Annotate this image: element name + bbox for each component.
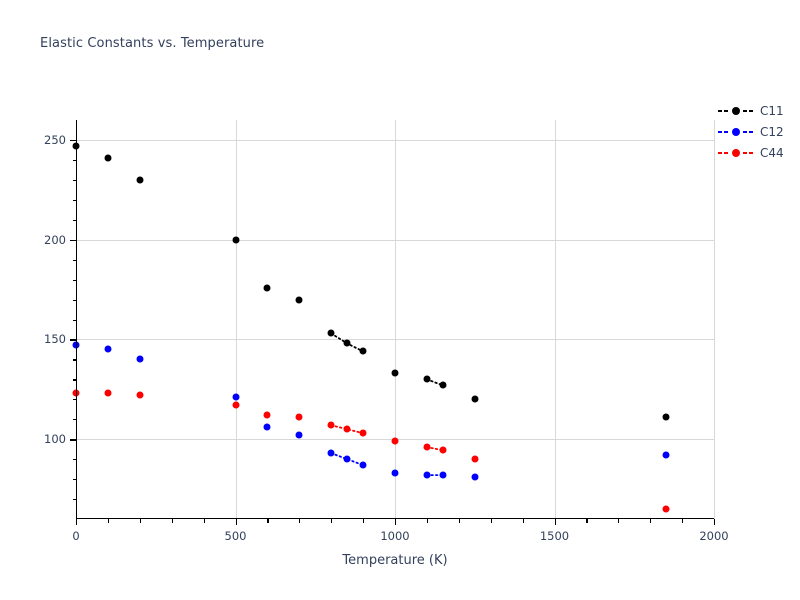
- legend-dash: [724, 110, 728, 112]
- x-tick-major: [395, 519, 396, 525]
- x-tick-minor: [586, 519, 587, 523]
- x-tick-major: [236, 519, 237, 525]
- legend: C11C12C44: [716, 100, 796, 163]
- x-tick-label: 2000: [699, 529, 728, 543]
- legend-marker-C12: [732, 128, 740, 136]
- gridline-vertical: [714, 120, 715, 519]
- legend-item-C12[interactable]: C12: [716, 121, 796, 142]
- legend-dash: [718, 110, 722, 112]
- x-tick-major: [714, 519, 715, 525]
- legend-marker-C44: [732, 149, 740, 157]
- x-tick-minor: [491, 519, 492, 523]
- x-tick-label: 1000: [380, 529, 409, 543]
- x-tick-minor: [650, 519, 651, 523]
- legend-label-C44: C44: [760, 146, 784, 160]
- y-tick-label: 150: [6, 332, 76, 346]
- x-tick-minor: [523, 519, 524, 523]
- legend-dash: [743, 131, 747, 133]
- x-tick-minor: [459, 519, 460, 523]
- x-tick-minor: [363, 519, 364, 523]
- legend-symbol-C12: [716, 126, 756, 138]
- x-tick-minor: [299, 519, 300, 523]
- x-tick-minor: [682, 519, 683, 523]
- legend-item-C44[interactable]: C44: [716, 142, 796, 163]
- x-axis-label: Temperature (K): [76, 553, 714, 568]
- x-tick-minor: [172, 519, 173, 523]
- legend-dash: [724, 131, 728, 133]
- legend-dash: [718, 152, 722, 154]
- legend-symbol-C11: [716, 105, 756, 117]
- legend-dash: [718, 131, 722, 133]
- legend-marker-C11: [732, 107, 740, 115]
- y-tick-label: 200: [6, 233, 76, 247]
- legend-dash: [749, 131, 753, 133]
- legend-dash: [749, 152, 753, 154]
- y-tick-label: 250: [6, 133, 76, 147]
- legend-dash: [743, 110, 747, 112]
- x-tick-minor: [331, 519, 332, 523]
- x-tick-major: [555, 519, 556, 525]
- x-tick-label: 0: [72, 529, 79, 543]
- axis-frame: [76, 120, 714, 519]
- x-tick-minor: [618, 519, 619, 523]
- x-tick-minor: [267, 519, 268, 523]
- legend-label-C11: C11: [760, 104, 784, 118]
- x-tick-minor: [427, 519, 428, 523]
- legend-item-C11[interactable]: C11: [716, 100, 796, 121]
- plot-area: [76, 120, 714, 519]
- x-tick-major: [76, 519, 77, 525]
- x-tick-minor: [140, 519, 141, 523]
- x-tick-minor: [108, 519, 109, 523]
- x-tick-label: 1500: [540, 529, 569, 543]
- x-tick-label: 500: [225, 529, 247, 543]
- legend-label-C12: C12: [760, 125, 784, 139]
- x-tick-minor: [204, 519, 205, 523]
- page-title: Elastic Constants vs. Temperature: [40, 36, 264, 51]
- chart-figure: Elastic Constants vs. Temperature 100150…: [0, 0, 800, 600]
- y-tick-label: 100: [6, 432, 76, 446]
- legend-dash: [749, 110, 753, 112]
- legend-dash: [743, 152, 747, 154]
- legend-dash: [724, 152, 728, 154]
- legend-symbol-C44: [716, 147, 756, 159]
